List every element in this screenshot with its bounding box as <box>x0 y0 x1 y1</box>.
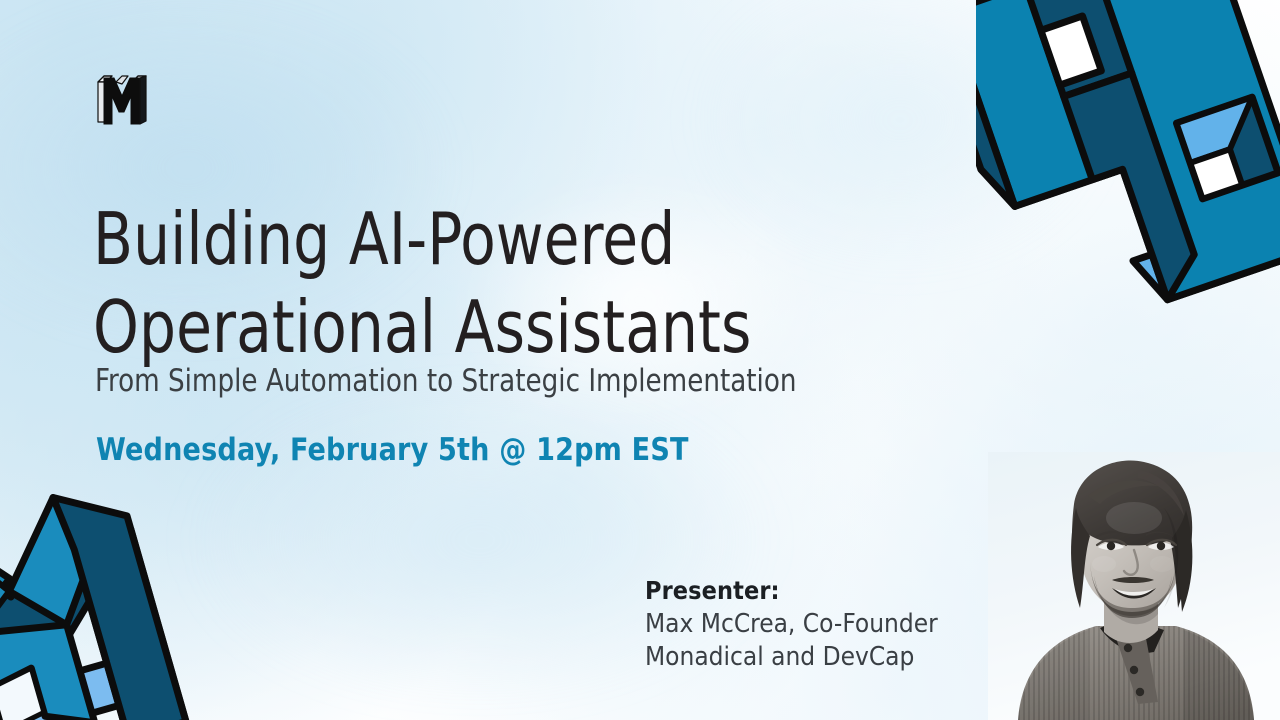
slide-canvas: Building AI-Powered Operational Assistan… <box>0 0 1280 720</box>
headline-line-1: Building AI-Powered <box>93 196 849 284</box>
presenter-block: Presenter: Max McCrea, Co-Founder Monadi… <box>645 575 995 675</box>
page-title: Building AI-Powered Operational Assistan… <box>93 196 933 372</box>
presenter-organization: Monadical and DevCap <box>645 641 995 675</box>
monadical-m-logo-icon <box>95 72 149 128</box>
presenter-heading: Presenter: <box>645 575 995 608</box>
presenter-name: Max McCrea, Co-Founder <box>645 608 995 642</box>
subtitle: From Simple Automation to Strategic Impl… <box>95 363 797 400</box>
headline-line-2: Operational Assistants <box>93 284 849 372</box>
presenter-photo <box>988 452 1280 720</box>
event-date: Wednesday, February 5th @ 12pm EST <box>96 432 689 469</box>
